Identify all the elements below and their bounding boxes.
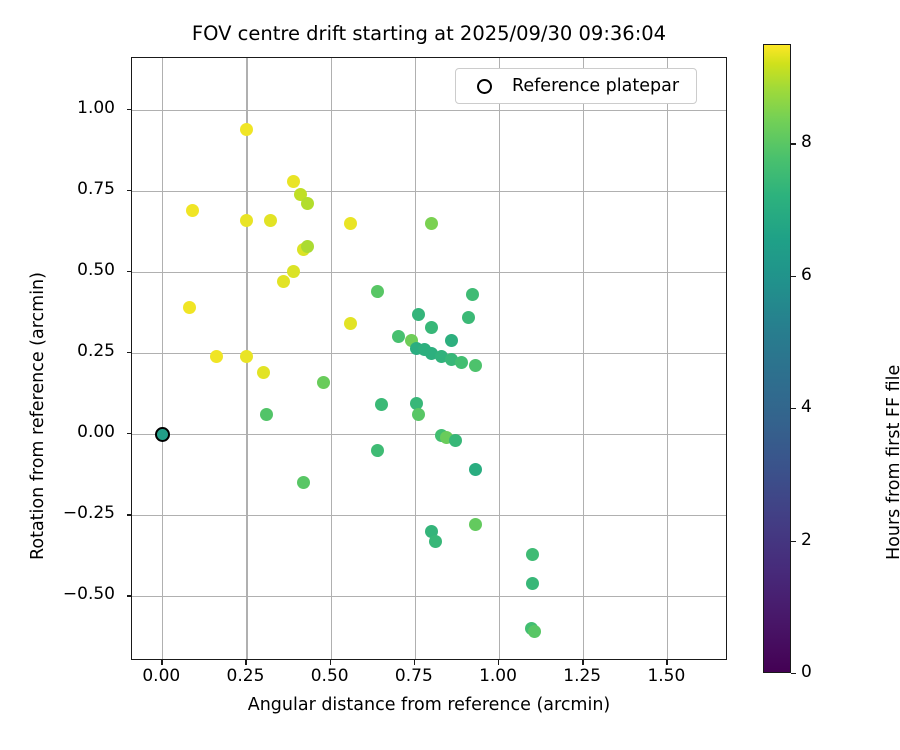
x-tick-4 (498, 660, 499, 665)
x-tick-5 (582, 660, 583, 665)
y-tick-5 (127, 190, 132, 191)
data-point (183, 301, 196, 314)
y-tick-6 (127, 109, 132, 110)
colorbar-tick-label-2: 4 (801, 397, 812, 417)
colorbar-tick-label-1: 2 (801, 530, 812, 550)
data-point (287, 175, 300, 188)
data-point (425, 217, 438, 230)
y-axis-label: Rotation from reference (arcmin) (28, 272, 48, 560)
data-point (260, 408, 273, 421)
x-tick-label-3: 0.75 (374, 666, 454, 686)
x-tick-2 (330, 660, 331, 665)
data-point (445, 334, 458, 347)
y-tick-label-6: 1.00 (0, 98, 115, 118)
y-tick-label-5: 0.75 (0, 179, 115, 199)
legend-entry-label: Reference platepar (512, 76, 685, 96)
data-point (455, 356, 468, 369)
colorbar-gradient (763, 44, 791, 673)
data-point (469, 359, 482, 372)
colorbar-tick-4 (791, 143, 796, 144)
y-tick-label-2: 0.00 (0, 422, 115, 442)
colorbar-tick-label-4: 8 (801, 132, 812, 152)
data-point (449, 434, 462, 447)
x-tick-3 (414, 660, 415, 665)
data-point (526, 577, 539, 590)
colorbar-tick-3 (791, 276, 796, 277)
x-tick-label-6: 1.50 (626, 666, 706, 686)
data-point (297, 476, 310, 489)
data-point (526, 548, 539, 561)
data-point (375, 398, 388, 411)
data-point (240, 214, 253, 227)
x-tick-label-1: 0.25 (205, 666, 285, 686)
colorbar-tick-2 (791, 408, 796, 409)
y-tick-2 (127, 433, 132, 434)
data-point (264, 214, 277, 227)
colorbar-tick-1 (791, 541, 796, 542)
data-point (462, 311, 475, 324)
data-point (466, 288, 479, 301)
x-tick-6 (666, 660, 667, 665)
y-tick-1 (127, 514, 132, 515)
legend: Reference platepar (455, 68, 697, 104)
colorbar-label: Hours from first FF file (884, 365, 900, 560)
y-tick-0 (127, 595, 132, 596)
y-tick-label-3: 0.25 (0, 341, 115, 361)
y-tick-3 (127, 352, 132, 353)
y-tick-label-0: −0.50 (0, 584, 115, 604)
data-point (371, 285, 384, 298)
data-point (240, 350, 253, 363)
x-tick-label-2: 0.50 (290, 666, 370, 686)
reference-platepar-marker (155, 427, 170, 442)
data-point (371, 444, 384, 457)
data-point (240, 123, 253, 136)
y-tick-4 (127, 271, 132, 272)
x-tick-1 (245, 660, 246, 665)
data-point (528, 625, 541, 638)
data-point (287, 265, 300, 278)
x-tick-label-4: 1.00 (458, 666, 538, 686)
data-point (469, 518, 482, 531)
data-point (344, 217, 357, 230)
colorbar-tick-0 (791, 673, 796, 674)
colorbar-tick-label-3: 6 (801, 265, 812, 285)
y-tick-label-4: 0.50 (0, 260, 115, 280)
data-point (277, 275, 290, 288)
data-point (257, 366, 270, 379)
data-point (469, 463, 482, 476)
y-tick-label-1: −0.25 (0, 503, 115, 523)
colorbar-tick-label-0: 0 (801, 662, 812, 682)
x-tick-label-5: 1.25 (542, 666, 622, 686)
colorbar: 02468 (763, 44, 791, 673)
data-point (412, 308, 425, 321)
page-title: FOV centre drift starting at 2025/09/30 … (131, 22, 727, 46)
x-tick-label-0: 0.00 (121, 666, 201, 686)
data-point (210, 350, 223, 363)
legend-marker-open-circle-icon (477, 79, 492, 94)
scatter-plot-figure: FOV centre drift starting at 2025/09/30 … (0, 0, 900, 750)
data-point (425, 321, 438, 334)
data-point (344, 317, 357, 330)
data-points-layer (132, 58, 726, 659)
data-point (186, 204, 199, 217)
plot-area (131, 57, 727, 660)
data-point (392, 330, 405, 343)
data-point (412, 408, 425, 421)
data-point (301, 197, 314, 210)
data-point (429, 535, 442, 548)
x-tick-0 (161, 660, 162, 665)
data-point (317, 376, 330, 389)
data-point (301, 240, 314, 253)
x-axis-label: Angular distance from reference (arcmin) (131, 695, 727, 715)
